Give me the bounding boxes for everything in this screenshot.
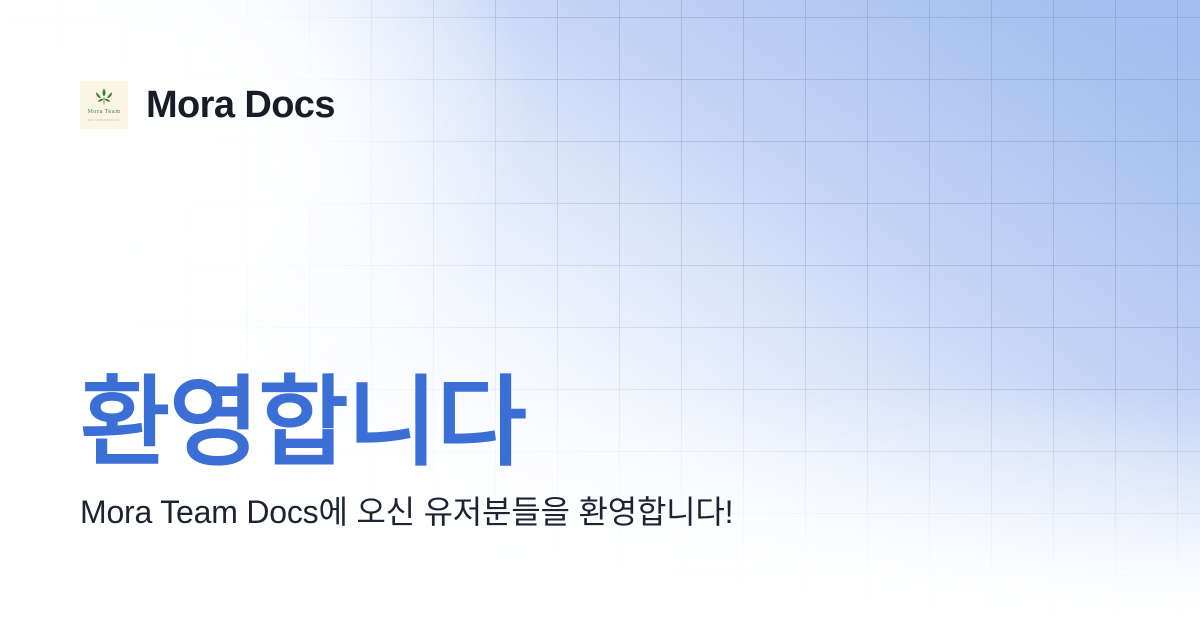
hero-block: 환영합니다 Mora Team Docs에 오신 유저분들을 환영합니다! <box>80 372 1120 532</box>
brand-header: Mora Team DOCUMENTATION Mora Docs <box>80 81 335 129</box>
brand-title: Mora Docs <box>146 86 335 124</box>
content-layer: Mora Team DOCUMENTATION Mora Docs 환영합니다 … <box>0 0 1200 630</box>
brand-logo-card-subtitle: DOCUMENTATION <box>88 120 120 123</box>
brand-logo-card: Mora Team DOCUMENTATION <box>80 81 128 129</box>
og-image-canvas: Mora Team DOCUMENTATION Mora Docs 환영합니다 … <box>0 0 1200 630</box>
hero-subheading: Mora Team Docs에 오신 유저분들을 환영합니다! <box>80 492 1120 532</box>
hero-heading: 환영합니다 <box>80 372 1120 474</box>
trefoil-leaf-icon <box>93 88 115 106</box>
brand-logo-card-name: Mora Team <box>88 110 121 115</box>
